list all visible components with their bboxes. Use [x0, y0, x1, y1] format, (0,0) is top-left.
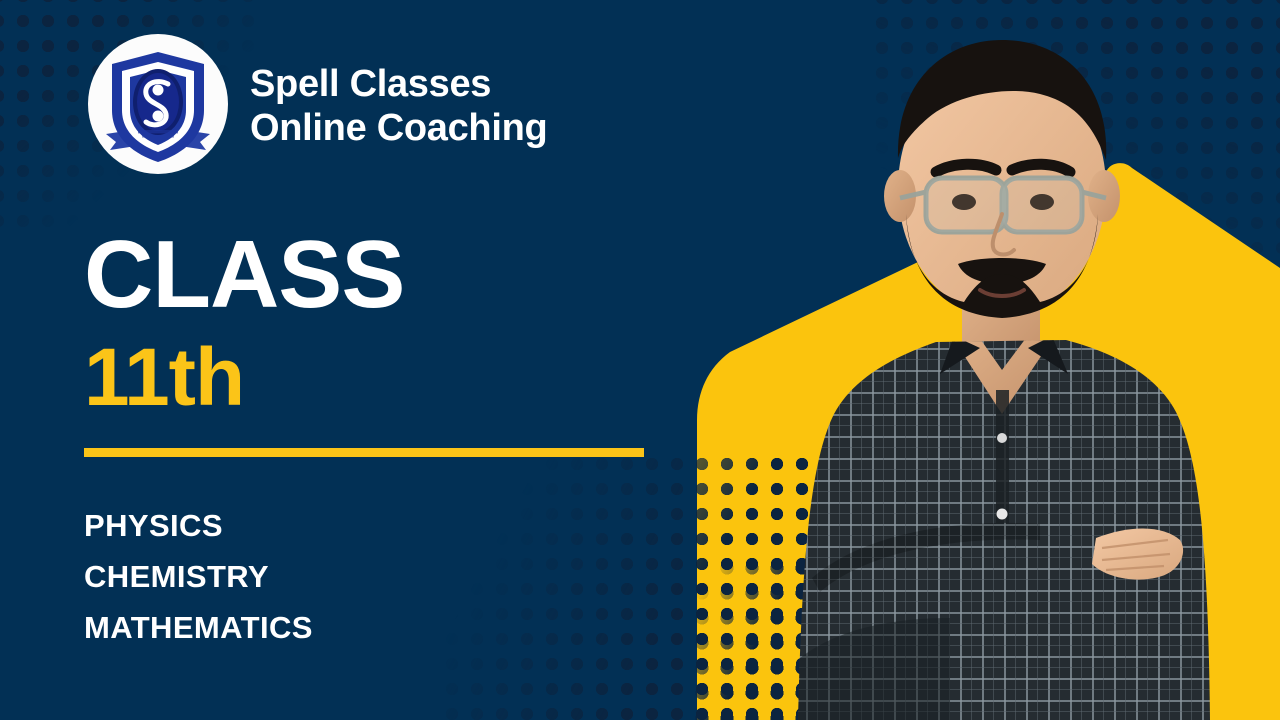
subject-list: PHYSICS CHEMISTRY MATHEMATICS — [84, 500, 313, 653]
instructor-photo — [740, 18, 1280, 720]
brand-name-line-1: Spell Classes — [250, 62, 547, 106]
subject-item-chemistry: CHEMISTRY — [84, 551, 313, 602]
brand-header: Spell Classes Online Coaching — [88, 34, 547, 174]
promo-poster: Spell Classes Online Coaching CLASS 11th… — [0, 0, 1280, 720]
brand-name-line-2: Online Coaching — [250, 106, 547, 150]
brand-name: Spell Classes Online Coaching — [250, 58, 547, 150]
headline-main: CLASS — [84, 228, 684, 322]
headline-sub: 11th — [84, 336, 684, 420]
subject-item-physics: PHYSICS — [84, 500, 313, 551]
brand-logo-icon — [88, 34, 228, 174]
gold-divider — [84, 448, 644, 457]
headline-block: CLASS 11th — [84, 228, 684, 457]
subject-item-mathematics: MATHEMATICS — [84, 602, 313, 653]
